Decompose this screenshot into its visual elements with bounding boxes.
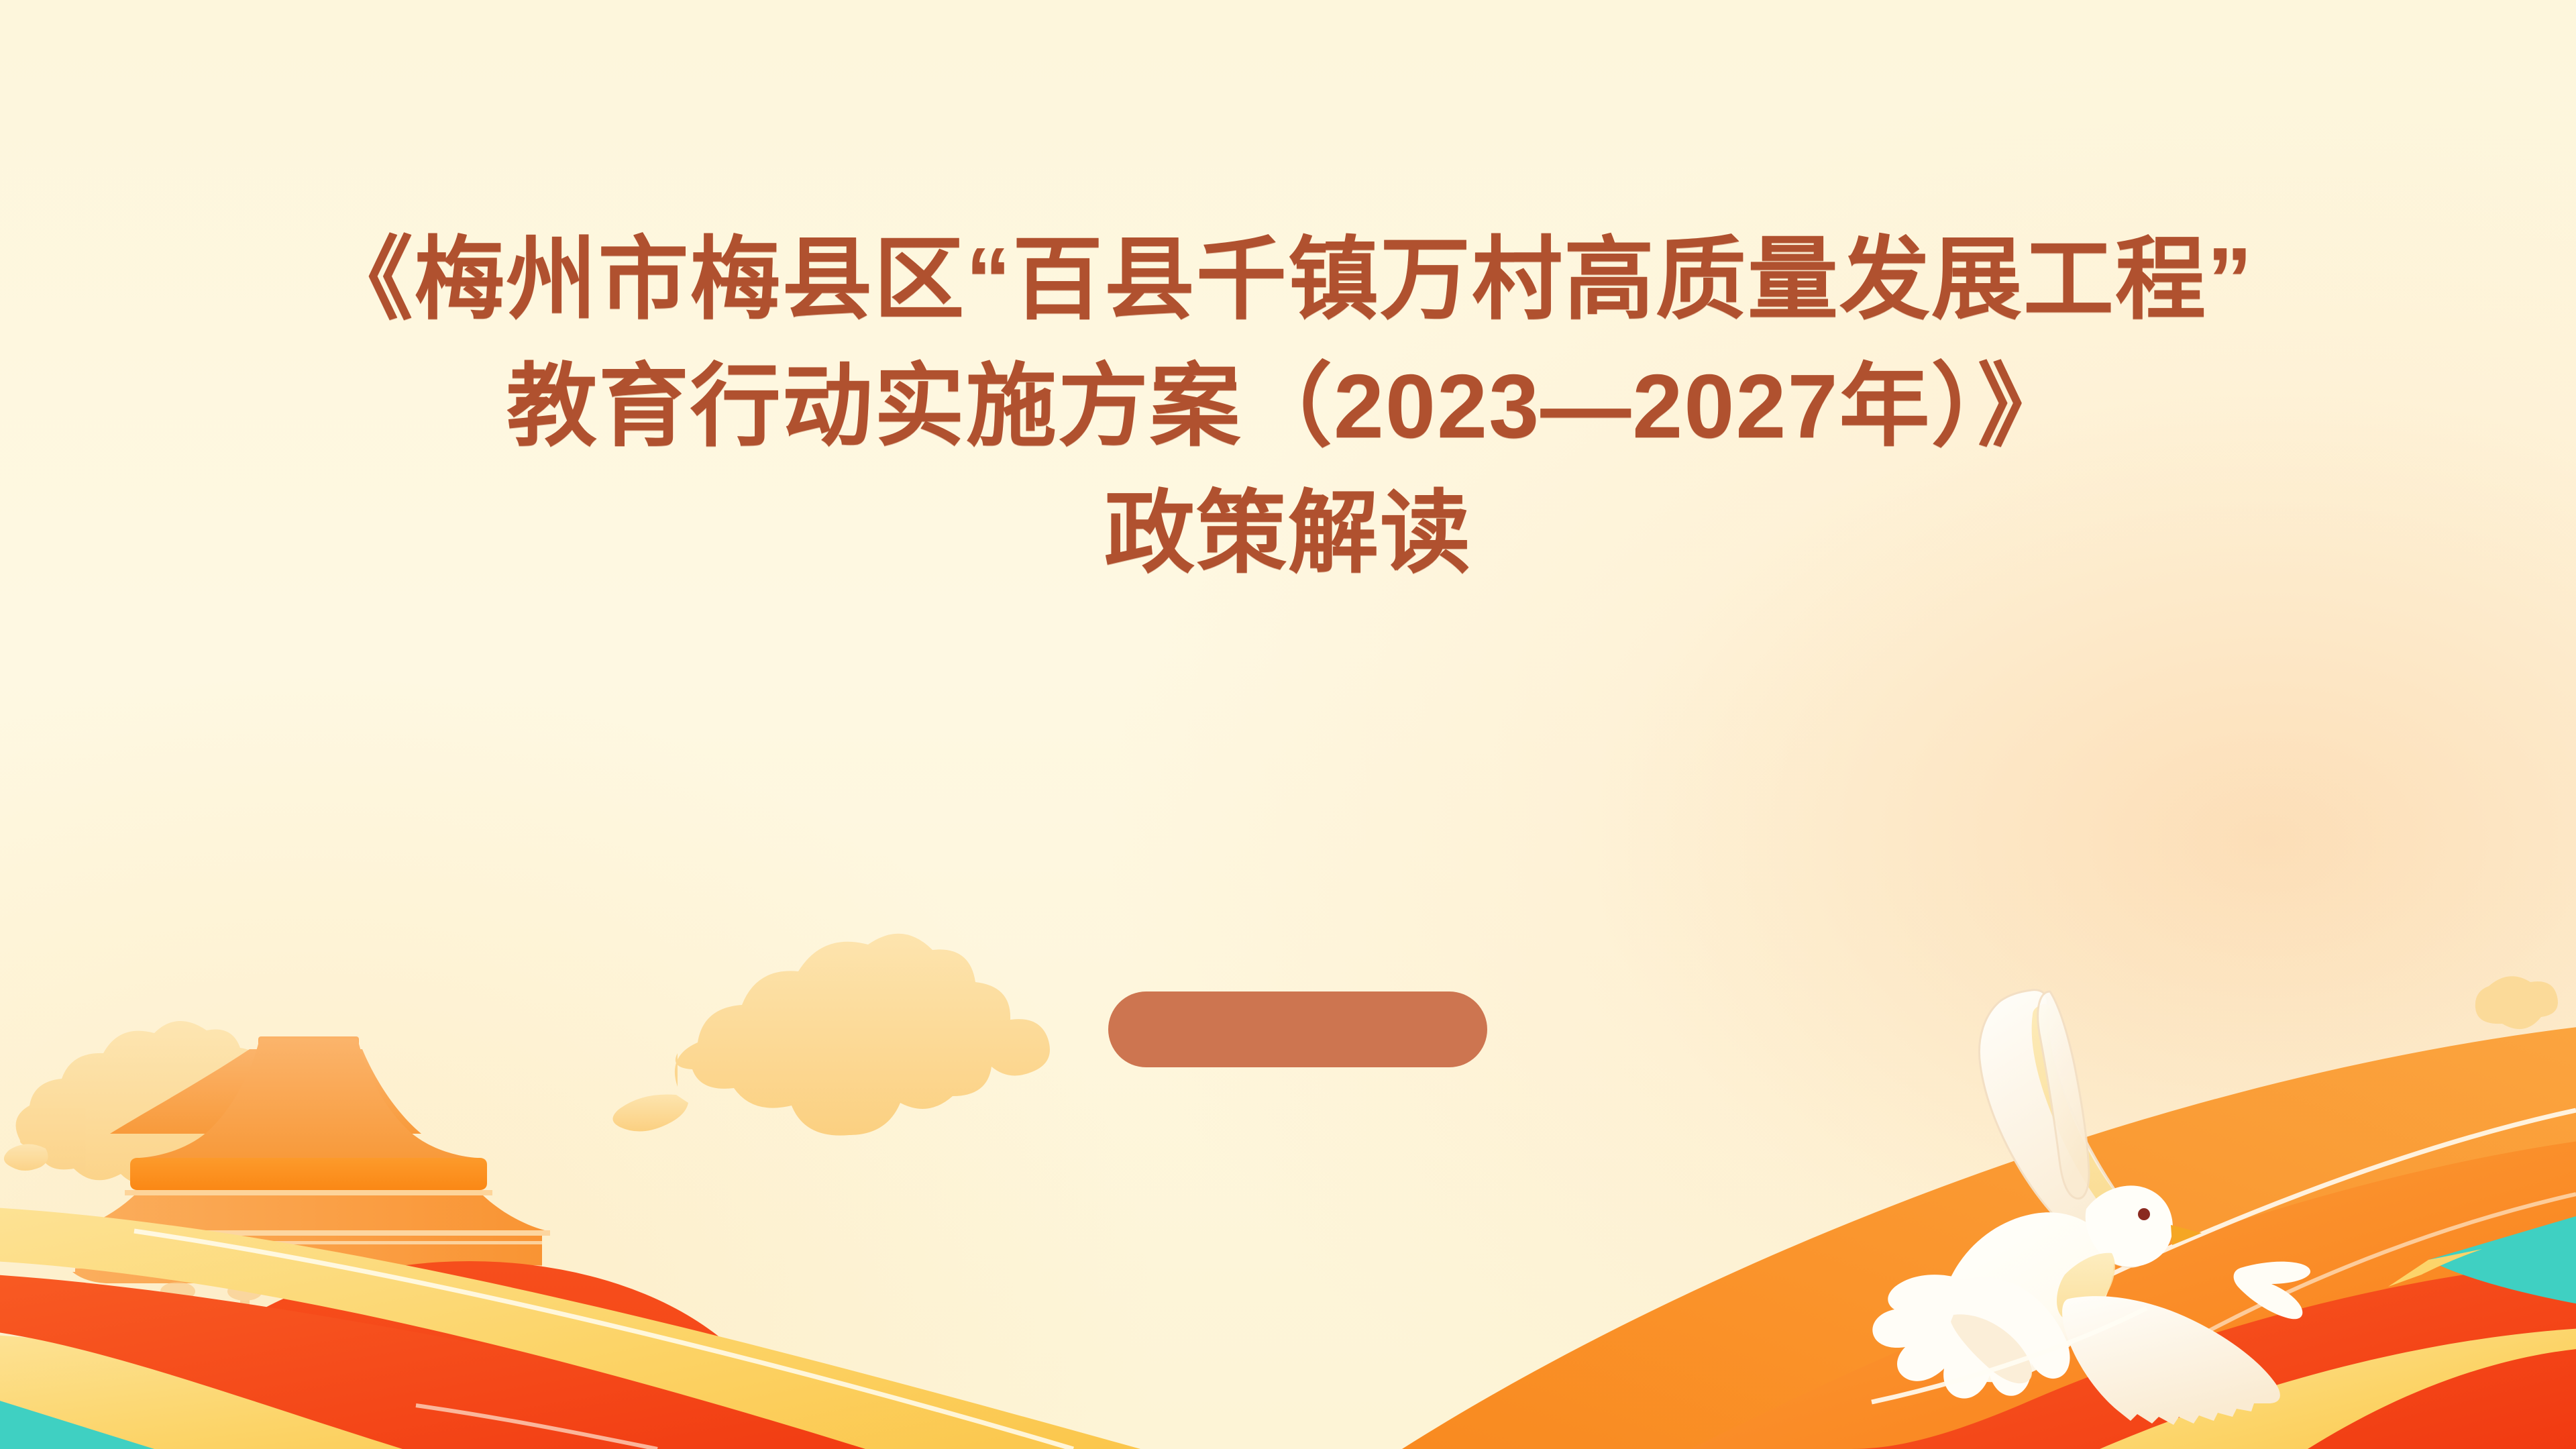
auspicious-cloud xyxy=(2475,976,2558,1029)
decorative-artwork xyxy=(0,0,2576,1449)
primary-action-button[interactable] xyxy=(1108,991,1487,1067)
slide-canvas: 《梅州市梅县区“百县千镇万村高质量发展工程” 教育行动实施方案（2023—202… xyxy=(0,0,2576,1449)
ribbon-group-left xyxy=(0,1207,1140,1449)
